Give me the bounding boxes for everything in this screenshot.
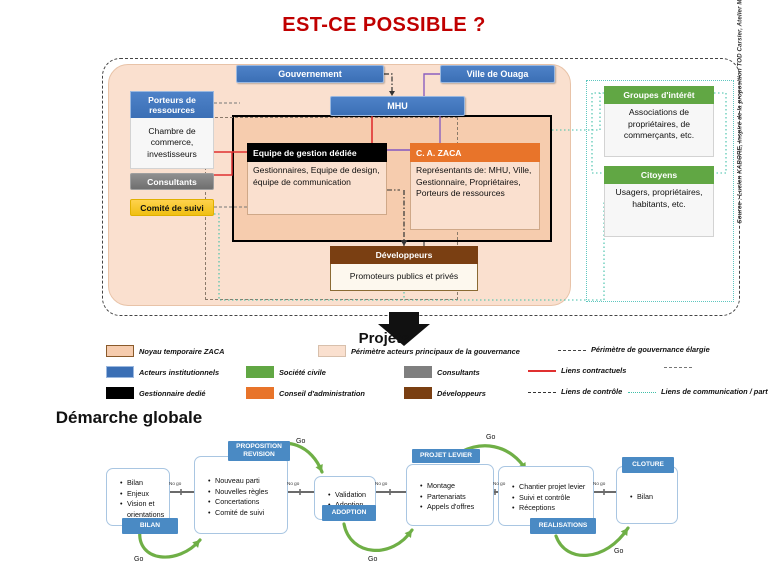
flow-stage-item: Partenariats — [421, 492, 489, 503]
box-groupes-body: Associations de propriétaires, de commer… — [604, 104, 714, 157]
legend-line-0: Périmètre de gouvernance élargie — [558, 345, 710, 354]
box-ca-zaca-body: Représentants de: MHU, Ville, Gestionnai… — [410, 162, 540, 230]
flow-connector-nogo-label: No go — [593, 481, 605, 486]
box-porteurs-de-ressources[interactable]: Porteurs de ressources Chambre de commer… — [130, 91, 214, 169]
box-comite-de-suivi[interactable]: Comité de suivi — [130, 199, 214, 216]
flow-stage-tag-adoption[interactable]: ADOPTION — [322, 505, 376, 521]
legend-swatch-6: Conseil d'administration — [246, 387, 365, 399]
legend-swatch-5: Gestionnaire dedié — [106, 387, 206, 399]
flow-stage-item: Bilan — [121, 478, 165, 489]
page-title: EST-CE POSSIBLE ? — [0, 14, 768, 37]
legend-label-6: Conseil d'administration — [279, 389, 365, 398]
legend-linelabel-4: Liens de contrôle — [561, 387, 622, 396]
legend-linelabel-0: Périmètre de gouvernance élargie — [591, 345, 710, 354]
flow-stage-tag-bilan[interactable]: BILAN — [122, 518, 178, 534]
flow-stage-item: Nouvelles règles — [209, 487, 283, 498]
legend-swatch-1: Périmètre acteurs principaux de la gouve… — [318, 345, 520, 357]
legend-line-5: Liens de communication / partenariat — [628, 387, 768, 396]
legend-linelabel-2: Liens contractuels — [561, 366, 626, 375]
flow-connector-nogo-label: No go — [375, 481, 387, 486]
box-citoyens-header: Citoyens — [604, 166, 714, 184]
legend-swatch-2: Acteurs institutionnels — [106, 366, 219, 378]
flow-stage-proposition-revision[interactable]: Nouveau partiNouvelles règlesConcertatio… — [194, 456, 288, 534]
box-developpeurs[interactable]: Développeurs Promoteurs publics et privé… — [330, 246, 478, 291]
legend-color-6 — [246, 387, 274, 399]
flow-stage-cloture[interactable]: Bilan — [616, 466, 678, 524]
legend-linestyle-5 — [628, 392, 656, 393]
flow-stage-tag-realisations[interactable]: REALISATIONS — [530, 518, 596, 534]
box-equipe-header: Equipe de gestion dédiée — [247, 143, 387, 162]
legend-swatch-4: Consultants — [404, 366, 480, 378]
box-groupes-header: Groupes d'intérêt — [604, 86, 714, 104]
flow-connector-go-label: Go — [134, 556, 143, 563]
flow-connector-nogo-label: No go — [493, 481, 505, 486]
flow-stage-item: Concertations — [209, 497, 283, 508]
box-developpeurs-body: Promoteurs publics et privés — [330, 264, 478, 291]
flow-stage-item: Validation — [329, 490, 371, 501]
box-ca-zaca-header: C. A. ZACA — [410, 143, 540, 162]
legend-color-7 — [404, 387, 432, 399]
legend-linestyle-2 — [528, 370, 556, 372]
box-porteurs-header: Porteurs de ressources — [130, 91, 214, 118]
legend-line-4: Liens de contrôle — [528, 387, 622, 396]
flow-stage-item: Comité de suivi — [209, 508, 283, 519]
flow-connector-nogo-label: No go — [287, 481, 299, 486]
flow-stage-item: Réceptions — [513, 503, 589, 514]
box-groupes-d-interet[interactable]: Groupes d'intérêt Associations de propri… — [604, 86, 714, 157]
legend-linelabel-5: Liens de communication / partenariat — [661, 387, 768, 396]
legend-linestyle-4 — [528, 392, 556, 393]
legend-linestyle-0 — [558, 350, 586, 351]
box-ville-de-ouaga[interactable]: Ville de Ouaga — [440, 65, 555, 83]
flow-stage-item: Suivi et contrôle — [513, 493, 589, 504]
legend-swatch-3: Société civile — [246, 366, 326, 378]
flow-stage-item: Montage — [421, 481, 489, 492]
flow-connector-go-label: Go — [368, 556, 377, 563]
flow-connector-go-label: Go — [486, 434, 495, 441]
legend-color-2 — [106, 366, 134, 378]
box-developpeurs-header: Développeurs — [330, 246, 478, 264]
box-equipe-de-gestion-dediee[interactable]: Equipe de gestion dédiée Gestionnaires, … — [247, 143, 387, 215]
legend-label-2: Acteurs institutionnels — [139, 368, 219, 377]
flow-stage-item: Vision et — [121, 499, 165, 510]
legend-swatch-7: Développeurs — [404, 387, 486, 399]
flow-stage-projet-levier[interactable]: MontagePartenariatsAppels d'offres — [406, 464, 494, 526]
flow-stage-item: Enjeux — [121, 489, 165, 500]
box-citoyens-body: Usagers, propriétaires, habitants, etc. — [604, 184, 714, 237]
flow-stage-tag-cloture[interactable]: CLOTURE — [622, 457, 674, 473]
box-porteurs-body: Chambre de commerce, investisseurs — [130, 118, 214, 169]
flow-stage-realisations[interactable]: Chantier projet levierSuivi et contrôleR… — [498, 466, 594, 526]
box-ca-zaca[interactable]: C. A. ZACA Représentants de: MHU, Ville,… — [410, 143, 540, 230]
legend: Noyau temporaire ZACA Périmètre acteurs … — [106, 345, 746, 403]
flow-stage-tag-projet-levier[interactable]: PROJET LEVIER — [412, 449, 480, 463]
box-citoyens[interactable]: Citoyens Usagers, propriétaires, habitan… — [604, 166, 714, 237]
legend-color-4 — [404, 366, 432, 378]
legend-label-0: Noyau temporaire ZACA — [139, 347, 224, 356]
box-gouvernement[interactable]: Gouvernement — [236, 65, 384, 83]
legend-label-7: Développeurs — [437, 389, 486, 398]
legend-linestyle-3 — [664, 367, 692, 368]
legend-label-1: Périmètre acteurs principaux de la gouve… — [351, 347, 520, 356]
legend-color-5 — [106, 387, 134, 399]
flow-connector-go-label: Go — [296, 438, 305, 445]
box-consultants[interactable]: Consultants — [130, 173, 214, 190]
flow-stage-item: Appels d'offres — [421, 502, 489, 513]
section-heading-demarche-globale: Démarche globale — [44, 408, 214, 428]
flow-stage-tag-proposition-revision[interactable]: PROPOSITION REVISION — [228, 441, 290, 461]
flow-stage-item: Bilan — [631, 492, 673, 503]
legend-label-4: Consultants — [437, 368, 480, 377]
legend-line-3 — [664, 366, 697, 368]
legend-swatch-0: Noyau temporaire ZACA — [106, 345, 224, 357]
legend-label-3: Société civile — [279, 368, 326, 377]
box-equipe-body: Gestionnaires, Equipe de design, équipe … — [247, 162, 387, 215]
legend-label-5: Gestionnaire dedié — [139, 389, 206, 398]
legend-line-2: Liens contractuels — [528, 366, 626, 375]
flow-stage-item: Chantier projet levier — [513, 482, 589, 493]
legend-color-1 — [318, 345, 346, 357]
legend-color-0 — [106, 345, 134, 357]
flow-connector-go-label: Go — [614, 548, 623, 555]
box-mhu[interactable]: MHU — [330, 96, 465, 116]
flow-stage-item: Nouveau parti — [209, 476, 283, 487]
legend-color-3 — [246, 366, 274, 378]
flow-connector-nogo-label: No go — [169, 481, 181, 486]
